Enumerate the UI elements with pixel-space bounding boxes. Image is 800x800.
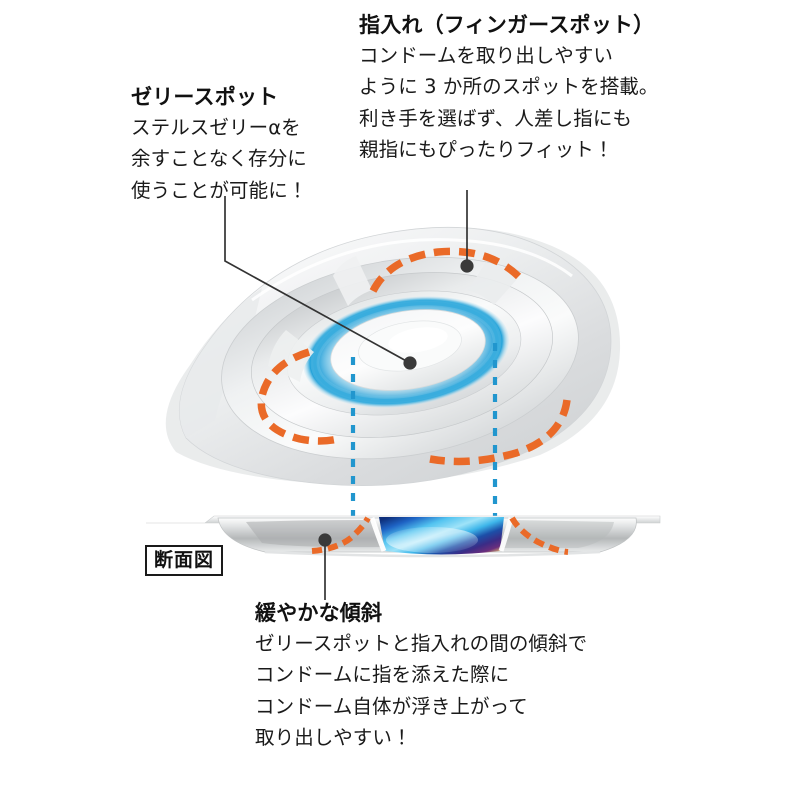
- callout-gentle-slope-line-3: コンドーム自体が浮き上がって: [255, 691, 587, 723]
- callout-jelly-spot: ゼリースポット ステルスゼリーαを 余すことなく存分に 使うことが可能に！: [131, 84, 307, 206]
- callout-jelly-spot-line-3: 使うことが可能に！: [131, 175, 307, 207]
- callout-gentle-slope-line-1: ゼリースポットと指入れの間の傾斜で: [255, 628, 587, 660]
- callout-finger-spot-heading: 指入れ（フィンガースポット）: [359, 12, 659, 40]
- callout-finger-spot-line-4: 親指にもぴったりフィット！: [359, 134, 659, 166]
- callout-finger-spot: 指入れ（フィンガースポット） コンドームを取り出しやすい ように 3 か所のスポ…: [359, 12, 659, 166]
- callout-gentle-slope-line-2: コンドームに指を添えた際に: [255, 659, 587, 691]
- callout-gentle-slope-body: ゼリースポットと指入れの間の傾斜で コンドームに指を添えた際に コンドーム自体が…: [255, 628, 587, 754]
- callout-finger-spot-line-3: 利き手を選ばず、人差し指にも: [359, 103, 659, 135]
- leader-dot-jelly-spot: [403, 356, 416, 369]
- callout-gentle-slope-heading: 緩やかな傾斜: [255, 600, 587, 628]
- callout-jelly-spot-line-1: ステルスゼリーαを: [131, 112, 307, 144]
- callout-jelly-spot-body: ステルスゼリーαを 余すことなく存分に 使うことが可能に！: [131, 112, 307, 207]
- figure-canvas: ゼリースポット ステルスゼリーαを 余すことなく存分に 使うことが可能に！ 指入…: [0, 0, 800, 800]
- callout-finger-spot-line-1: コンドームを取り出しやすい: [359, 40, 659, 72]
- leader-dot-slope: [318, 533, 331, 546]
- callout-finger-spot-line-2: ように 3 か所のスポットを搭載。: [359, 71, 659, 103]
- callout-finger-spot-body: コンドームを取り出しやすい ように 3 か所のスポットを搭載。 利き手を選ばず、…: [359, 40, 659, 166]
- callout-jelly-spot-line-2: 余すことなく存分に: [131, 143, 307, 175]
- callout-gentle-slope-line-4: 取り出しやすい！: [255, 722, 587, 754]
- cross-section-view: [146, 516, 660, 556]
- cross-section-label: 断面図: [145, 545, 223, 576]
- callout-gentle-slope: 緩やかな傾斜 ゼリースポットと指入れの間の傾斜で コンドームに指を添えた際に コ…: [255, 600, 587, 754]
- callout-jelly-spot-heading: ゼリースポット: [131, 84, 307, 112]
- leader-dot-finger-spot: [460, 259, 473, 272]
